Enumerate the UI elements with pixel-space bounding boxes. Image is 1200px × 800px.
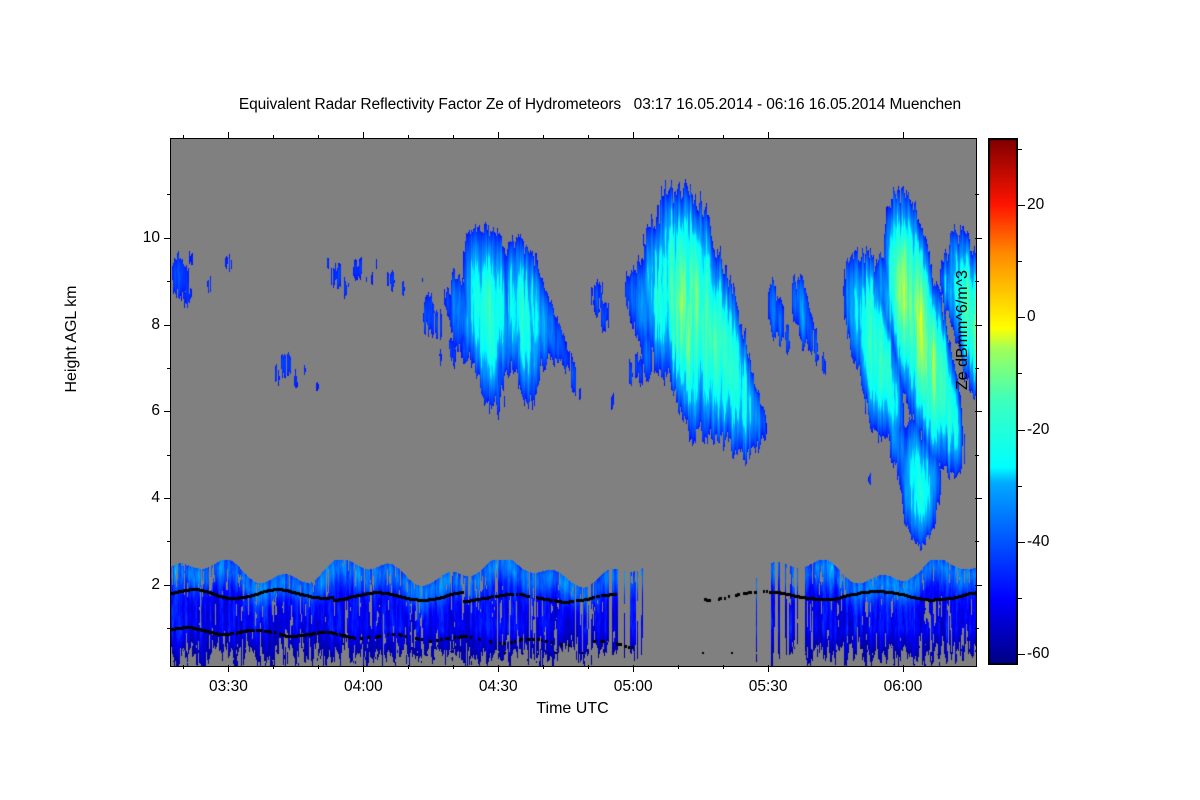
y-axis-tick-minor [167, 368, 171, 369]
x-axis-tick-minor [678, 135, 679, 139]
x-axis-tick-major [363, 132, 364, 139]
x-axis-tick-major [903, 132, 904, 139]
y-axis-tick-major [164, 325, 171, 326]
colorbar-gradient [988, 138, 1018, 665]
page-title: Equivalent Radar Reflectivity Factor Ze … [0, 96, 1200, 114]
colorbar-tick-minor [1018, 486, 1022, 487]
x-axis-tick-minor [273, 135, 274, 139]
x-axis-tick-minor [183, 665, 184, 669]
y-axis-tick-major [975, 411, 982, 412]
x-axis-tick-major [498, 665, 499, 672]
y-axis-tick-major [164, 585, 171, 586]
y-axis-tick-minor [167, 455, 171, 456]
colorbar-tick-minor [1018, 149, 1022, 150]
y-axis-tick-major [975, 498, 982, 499]
x-axis-tick-minor [543, 135, 544, 139]
colorbar-tick-label: -60 [1027, 645, 1049, 663]
colorbar-tick-major [1018, 205, 1025, 206]
colorbar-tick-minor [1018, 598, 1022, 599]
x-axis-tick-major [633, 132, 634, 139]
x-axis-tick-minor [318, 135, 319, 139]
x-axis-tick-major [633, 665, 634, 672]
x-axis-tick-minor [318, 665, 319, 669]
colorbar-tick-label: -40 [1027, 533, 1049, 551]
radar-reflectivity-heatmap [171, 139, 976, 666]
x-axis-tick-minor [723, 135, 724, 139]
colorbar-tick-major [1018, 317, 1025, 318]
colorbar-tick-label: 20 [1027, 196, 1044, 214]
y-axis-tick-major [975, 325, 982, 326]
y-axis-tick-label: 4 [124, 489, 160, 507]
x-axis-tick-label: 06:00 [884, 678, 923, 696]
x-axis-tick-major [768, 132, 769, 139]
y-axis-tick-major [164, 238, 171, 239]
x-axis-tick-label: 04:30 [479, 678, 518, 696]
y-axis-tick-minor [975, 455, 979, 456]
colorbar-tick-label: 0 [1027, 308, 1036, 326]
colorbar-tick-minor [1018, 373, 1022, 374]
y-axis-tick-minor [975, 628, 979, 629]
colorbar-tick-major [1018, 430, 1025, 431]
x-axis-tick-label: 05:00 [614, 678, 653, 696]
y-axis-tick-minor [167, 281, 171, 282]
y-axis-tick-minor [975, 368, 979, 369]
y-axis-tick-label: 6 [124, 402, 160, 420]
x-axis-tick-major [498, 132, 499, 139]
y-axis-tick-major [164, 498, 171, 499]
y-axis-tick-minor [975, 194, 979, 195]
y-axis-tick-minor [975, 281, 979, 282]
x-axis-tick-minor [183, 135, 184, 139]
y-axis-tick-label: 2 [124, 576, 160, 594]
x-axis-tick-major [363, 665, 364, 672]
x-axis-tick-major [768, 665, 769, 672]
y-axis-tick-minor [167, 541, 171, 542]
colorbar-tick-major [1018, 654, 1025, 655]
x-axis-tick-major [903, 665, 904, 672]
radar-figure: Equivalent Radar Reflectivity Factor Ze … [0, 0, 1200, 800]
y-axis-tick-label: 10 [124, 229, 160, 247]
x-axis-tick-minor [273, 665, 274, 669]
x-axis-tick-minor [543, 665, 544, 669]
x-axis-tick-label: 04:00 [344, 678, 383, 696]
y-axis-tick-label: 8 [124, 316, 160, 334]
x-axis-tick-minor [408, 135, 409, 139]
y-axis-tick-major [975, 585, 982, 586]
plot-area [170, 138, 977, 667]
x-axis-tick-label: 05:30 [749, 678, 788, 696]
colorbar-tick-minor [1018, 261, 1022, 262]
x-axis-tick-minor [453, 135, 454, 139]
colorbar-tick-major [1018, 542, 1025, 543]
y-axis-label: Height AGL km [63, 229, 81, 449]
x-axis-tick-minor [678, 665, 679, 669]
x-axis-tick-minor [588, 135, 589, 139]
x-axis-label: Time UTC [170, 700, 975, 718]
x-axis-tick-major [228, 665, 229, 672]
y-axis-tick-minor [167, 194, 171, 195]
x-axis-tick-minor [408, 665, 409, 669]
y-axis-tick-major [975, 238, 982, 239]
x-axis-tick-label: 03:30 [209, 678, 248, 696]
y-axis-tick-minor [975, 541, 979, 542]
y-axis-tick-major [164, 411, 171, 412]
x-axis-tick-minor [588, 665, 589, 669]
x-axis-tick-minor [453, 665, 454, 669]
x-axis-tick-minor [723, 665, 724, 669]
y-axis-tick-minor [167, 628, 171, 629]
colorbar-label: Ze dBmm^6/m^3 [954, 210, 972, 450]
x-axis-tick-major [228, 132, 229, 139]
colorbar-tick-label: -20 [1027, 421, 1049, 439]
colorbar [988, 138, 1018, 665]
